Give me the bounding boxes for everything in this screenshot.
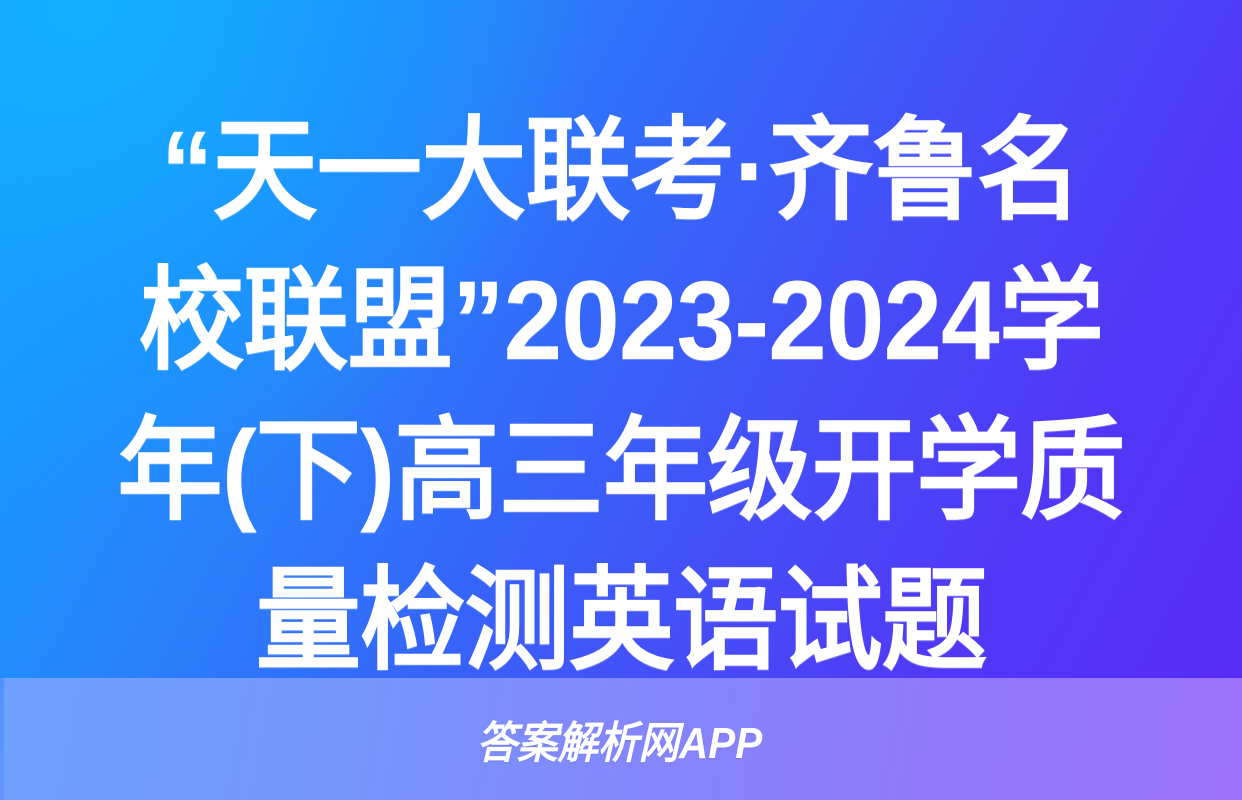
- banner-left-edge-accent: [0, 678, 4, 800]
- page-title-container: “天一大联考·齐鲁名校联盟”2023-2024学年(下)高三年级开学质量检测英语…: [78, 96, 1164, 696]
- page-title: “天一大联考·齐鲁名校联盟”2023-2024学年(下)高三年级开学质量检测英语…: [111, 96, 1132, 696]
- screenshot-root: “天一大联考·齐鲁名校联盟”2023-2024学年(下)高三年级开学质量检测英语…: [0, 0, 1242, 800]
- app-watermark-label: 答案解析网APP: [476, 707, 762, 771]
- app-watermark-banner: 答案解析网APP: [0, 678, 1242, 800]
